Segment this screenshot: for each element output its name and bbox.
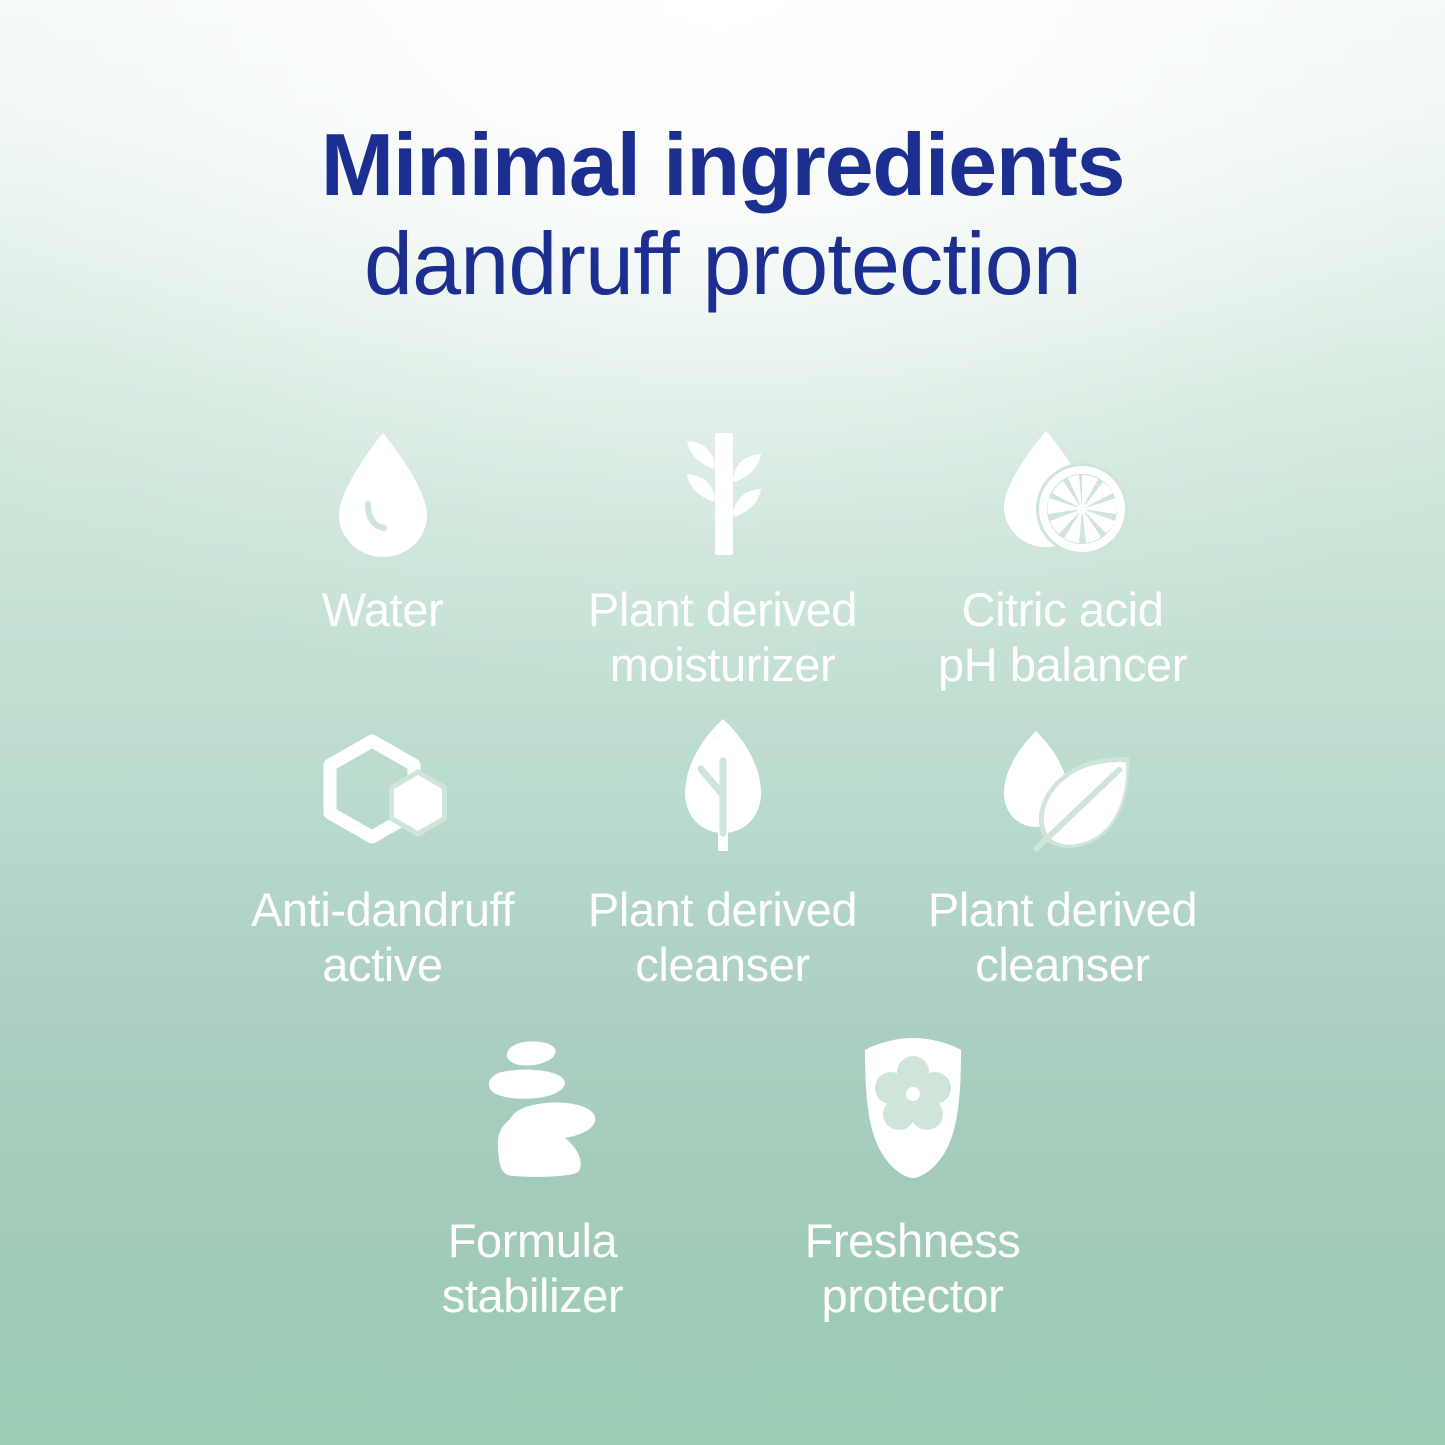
ingredient-row-2: Anti-dandruff active Plant derived clean… [0,715,1445,993]
headline-secondary: dandruff protection [60,217,1385,310]
ingredient-item-plant-derived-cleanser-1: Plant derived cleanser [553,715,893,993]
ingredient-item-plant-derived-moisturizer: Plant derived moisturizer [553,425,893,693]
ingredient-item-water: Water [213,425,553,693]
water-drop-icon [335,425,431,557]
ingredient-item-citric-acid: Citric acid pH balancer [893,425,1233,693]
ingredient-label: Water [322,583,444,638]
ingredient-label: Plant derived cleanser [928,883,1197,993]
single-leaf-icon [671,715,775,853]
ingredient-label: Freshness protector [805,1214,1021,1324]
hexagon-molecule-icon [314,715,452,853]
ingredient-item-freshness-protector: Freshness protector [723,1030,1103,1324]
ingredient-row-1: Water Plant derived moisturizer [0,425,1445,693]
shield-flower-icon [857,1030,969,1180]
double-leaf-icon [988,715,1138,853]
plant-sprig-icon [667,425,779,557]
ingredient-label: Citric acid pH balancer [938,583,1187,693]
headline-primary: Minimal ingredients [60,118,1385,211]
ingredients-infographic: Minimal ingredients dandruff protection … [0,0,1445,1445]
ingredient-label: Plant derived cleanser [588,883,857,993]
ingredient-label: Formula stabilizer [442,1214,623,1324]
ingredient-item-anti-dandruff-active: Anti-dandruff active [213,715,553,993]
ingredient-item-plant-derived-cleanser-2: Plant derived cleanser [893,715,1233,993]
balanced-stones-icon [460,1030,606,1180]
page-title: Minimal ingredients dandruff protection [0,118,1445,311]
citrus-slice-drop-icon [994,425,1132,557]
ingredient-label: Anti-dandruff active [251,883,514,993]
ingredient-item-formula-stabilizer: Formula stabilizer [343,1030,723,1324]
ingredient-label: Plant derived moisturizer [588,583,857,693]
ingredient-row-3: Formula stabilizer Freshness [0,1030,1445,1324]
